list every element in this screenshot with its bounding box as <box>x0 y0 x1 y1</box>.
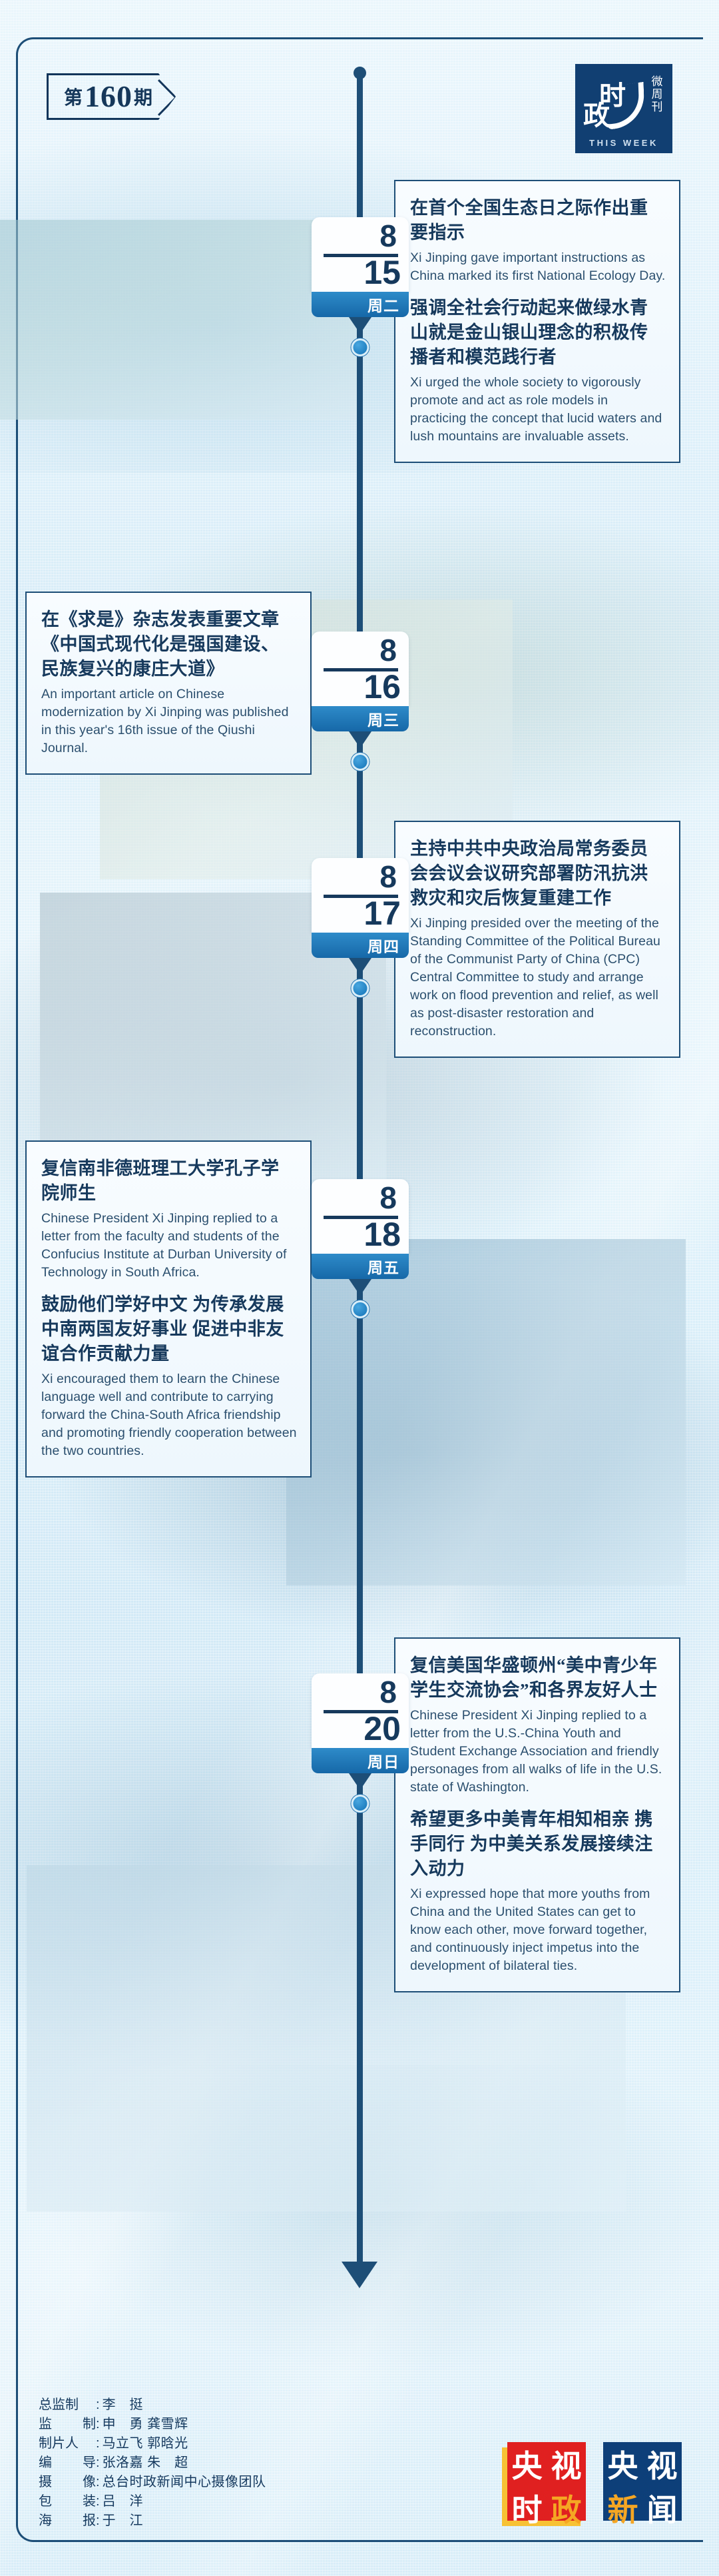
timeline-end-arrow-icon <box>342 2262 377 2288</box>
background-photo-4 <box>286 1239 686 1585</box>
credit-label: 摄像 <box>39 2473 96 2492</box>
date-day: 20 <box>363 1709 401 1748</box>
cctv-politics-logo[interactable]: 央 视 时 政 <box>507 2442 586 2521</box>
credit-label: 制片人 <box>39 2434 96 2453</box>
credit-row: 监制 : 申 勇 龚雪辉 <box>39 2415 266 2434</box>
bottom-logo-group: 央 视 时 政 央 视 新 闻 <box>507 2442 682 2521</box>
cctv-news-logo[interactable]: 央 视 新 闻 <box>603 2442 682 2521</box>
credit-label: 编导 <box>39 2453 96 2473</box>
date-marker-08-20[interactable]: 8 20 周日 <box>312 1673 409 1773</box>
event-card-08-16[interactable]: 在《求是》杂志发表重要文章《中国式现代化是强国建设、民族复兴的康庄大道》 An … <box>25 592 312 775</box>
date-marker-08-17[interactable]: 8 17 周四 <box>312 858 409 958</box>
event-card-08-17[interactable]: 主持中共中央政治局常务委员会会议会议研究部署防汛抗洪救灾和灾后恢复重建工作 Xi… <box>394 821 680 1058</box>
issue-prefix: 第 <box>64 83 83 110</box>
date-marker-08-18[interactable]: 8 18 周五 <box>312 1179 409 1279</box>
event-headline-cn: 复信美国华盛顿州“美中青少年学生交流协会”和各界友好人士 <box>410 1653 666 1703</box>
credit-row: 编导 : 张洛嘉 朱 超 <box>39 2453 266 2473</box>
event-headline-cn: 鼓励他们学好中文 为传承发展中南两国友好事业 促进中非友谊合作贡献力量 <box>41 1292 297 1366</box>
brand-logo-english: THIS WEEK <box>589 138 658 148</box>
date-card: 8 18 <box>312 1179 409 1254</box>
event-summary-en: Xi urged the whole society to vigorously… <box>410 374 666 446</box>
date-card: 8 20 <box>312 1673 409 1748</box>
date-month: 8 <box>379 1180 397 1215</box>
credit-row: 制片人 : 马立飞 郭晗光 <box>39 2434 266 2453</box>
date-card: 8 16 <box>312 632 409 706</box>
event-headline-cn: 在首个全国生态日之际作出重要指示 <box>410 196 666 245</box>
date-weekday: 周日 <box>312 1748 409 1773</box>
event-headline-cn: 希望更多中美青年相知相亲 携手同行 为中美关系发展接续注入动力 <box>410 1807 666 1881</box>
brand-subtitle-weekly: 微周刊 <box>647 75 667 113</box>
date-day: 15 <box>363 253 401 292</box>
event-headline-cn: 主持中共中央政治局常务委员会会议会议研究部署防汛抗洪救灾和灾后恢复重建工作 <box>410 837 666 911</box>
date-weekday: 周三 <box>312 706 409 731</box>
logo-char-yang: 央 <box>608 2442 638 2486</box>
event-summary-en: Xi Jinping gave important instructions a… <box>410 249 666 285</box>
background-photo-1 <box>0 220 359 420</box>
event-headline-cn: 强调全社会行动起来做绿水青山就是金山银山理念的积极传播者和模范践行者 <box>410 296 666 370</box>
date-pointer-icon <box>349 1279 371 1296</box>
credit-value: 总台时政新闻中心摄像团队 <box>103 2473 266 2492</box>
timeline-spine <box>357 72 363 2270</box>
date-month: 8 <box>379 1675 397 1709</box>
issue-number: 160 <box>85 81 132 112</box>
date-card: 8 17 <box>312 858 409 933</box>
credit-colon: : <box>96 2492 100 2511</box>
credit-label: 总监制 <box>39 2395 96 2415</box>
timeline-dot <box>352 979 369 997</box>
credit-colon: : <box>96 2434 100 2453</box>
credit-label: 包装 <box>39 2492 96 2511</box>
date-marker-08-15[interactable]: 8 15 周二 <box>312 217 409 317</box>
date-weekday: 周二 <box>312 292 409 317</box>
date-card: 8 15 <box>312 217 409 292</box>
date-weekday: 周五 <box>312 1254 409 1279</box>
credits-block: 总监制 : 李 挺 监制 : 申 勇 龚雪辉 制片人 : 马立飞 郭晗光 编导 … <box>39 2395 266 2531</box>
date-month: 8 <box>379 859 397 894</box>
credit-label: 监制 <box>39 2415 96 2434</box>
credit-value: 李 挺 <box>103 2395 144 2415</box>
credit-row: 总监制 : 李 挺 <box>39 2395 266 2415</box>
credit-value: 于 江 <box>103 2511 144 2531</box>
date-month: 8 <box>379 633 397 667</box>
timeline-start-cap <box>354 67 366 79</box>
logo-char-shi: 视 <box>551 2442 582 2486</box>
credit-colon: : <box>96 2453 100 2473</box>
credit-row: 摄像 : 总台时政新闻中心摄像团队 <box>39 2473 266 2492</box>
event-card-08-15[interactable]: 在首个全国生态日之际作出重要指示 Xi Jinping gave importa… <box>394 180 680 463</box>
date-pointer-icon <box>349 1773 371 1790</box>
credit-label: 海报 <box>39 2511 96 2531</box>
event-summary-en: Xi encouraged them to learn the Chinese … <box>41 1370 297 1460</box>
event-summary-en: Xi expressed hope that more youths from … <box>410 1885 666 1975</box>
event-headline-cn: 在《求是》杂志发表重要文章《中国式现代化是强国建设、民族复兴的康庄大道》 <box>41 608 297 681</box>
timeline-dot <box>352 1795 369 1813</box>
timeline-dot <box>352 753 369 771</box>
credit-value: 张洛嘉 朱 超 <box>103 2453 188 2473</box>
brand-logo: 时 政 微周刊 THIS WEEK <box>575 64 672 153</box>
brand-logo-chinese: 时 政 微周刊 <box>575 70 672 137</box>
credit-value: 吕 洋 <box>103 2492 144 2511</box>
credit-row: 包装 : 吕 洋 <box>39 2492 266 2511</box>
issue-number-badge: 第 160 期 <box>47 73 176 120</box>
credit-row: 海报 : 于 江 <box>39 2511 266 2531</box>
logo-char-xin: 新 <box>608 2486 638 2530</box>
timeline-dot <box>352 338 369 356</box>
event-card-08-18[interactable]: 复信南非德班理工大学孔子学院师生 Chinese President Xi Ji… <box>25 1140 312 1478</box>
date-pointer-icon <box>349 958 371 975</box>
logo-char-wen: 闻 <box>647 2486 678 2530</box>
brand-swoosh-icon <box>605 81 645 129</box>
event-summary-en: Xi Jinping presided over the meeting of … <box>410 915 666 1041</box>
date-month: 8 <box>379 218 397 253</box>
logo-char-yang: 央 <box>512 2442 543 2486</box>
date-day: 18 <box>363 1215 401 1254</box>
date-marker-08-16[interactable]: 8 16 周三 <box>312 632 409 731</box>
date-day: 16 <box>363 667 401 706</box>
event-card-08-20[interactable]: 复信美国华盛顿州“美中青少年学生交流协会”和各界友好人士 Chinese Pre… <box>394 1637 680 1992</box>
timeline-dot <box>352 1300 369 1318</box>
logo-char-shi: 视 <box>647 2442 678 2486</box>
date-pointer-icon <box>349 317 371 334</box>
date-weekday: 周四 <box>312 933 409 958</box>
credit-value: 申 勇 龚雪辉 <box>103 2415 188 2434</box>
logo-char-zheng: 政 <box>551 2486 582 2530</box>
credit-colon: : <box>96 2473 100 2492</box>
event-summary-en: An important article on Chinese moderniz… <box>41 685 297 757</box>
logo-char-shi2: 时 <box>512 2486 543 2530</box>
date-day: 17 <box>363 894 401 933</box>
credit-colon: : <box>96 2415 100 2434</box>
event-summary-en: Chinese President Xi Jinping replied to … <box>410 1707 666 1797</box>
issue-suffix: 期 <box>134 83 153 110</box>
credit-colon: : <box>96 2511 100 2531</box>
credit-colon: : <box>96 2395 100 2415</box>
event-summary-en: Chinese President Xi Jinping replied to … <box>41 1210 297 1282</box>
date-pointer-icon <box>349 731 371 748</box>
event-headline-cn: 复信南非德班理工大学孔子学院师生 <box>41 1156 297 1206</box>
credit-value: 马立飞 郭晗光 <box>103 2434 188 2453</box>
